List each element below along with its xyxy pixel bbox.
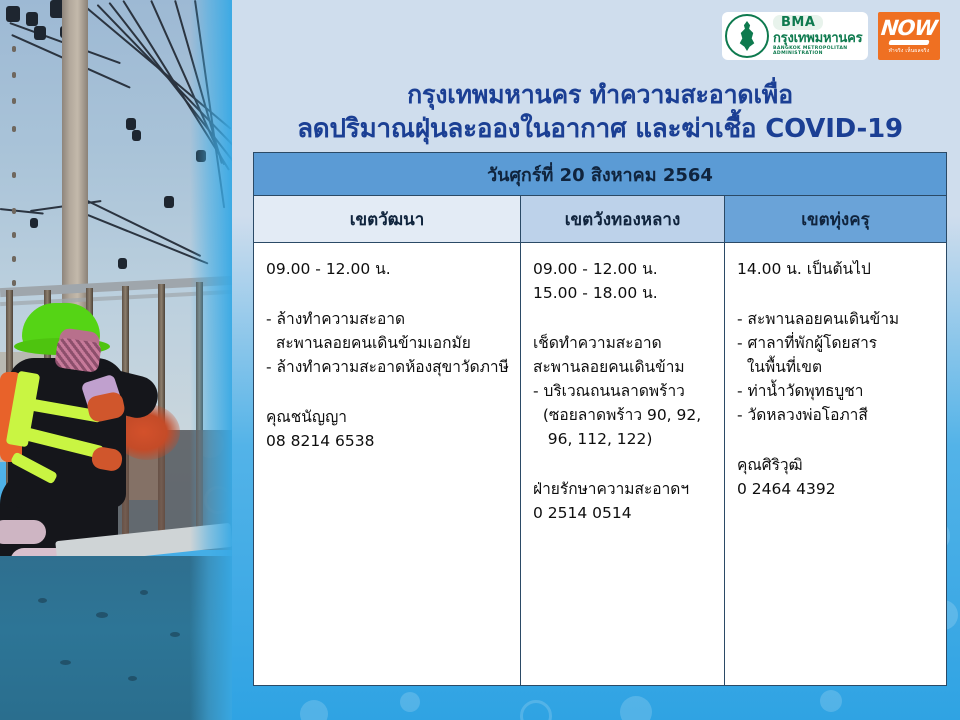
bma-logo-th: กรุงเทพมหานคร [773, 32, 862, 45]
cell-line: 15.00 - 18.00 น. [533, 281, 712, 305]
photo-edge-fade [190, 0, 232, 720]
cell-line-spacer [533, 451, 712, 464]
cell-line-spacer [266, 379, 508, 392]
cell-thungkhru: 14.00 น. เป็นต้นไป- สะพานลอยคนเดินข้าม- … [725, 243, 946, 685]
bma-seal-icon [725, 14, 769, 58]
schedule-table: วันศุกร์ที่ 20 สิงหาคม 2564 เขตวัฒนา เขต… [253, 152, 947, 686]
cell-line-spacer [533, 305, 712, 318]
cell-line: ในพื้นที่เขต [737, 355, 934, 379]
cell-line: 08 8214 6538 [266, 429, 508, 453]
cell-line: 14.00 น. เป็นต้นไป [737, 257, 934, 281]
cell-line: - สะพานลอยคนเดินข้าม [737, 307, 934, 331]
column-header-thungkhru: เขตทุ่งครุ [725, 196, 946, 242]
worker-mask [54, 337, 102, 373]
table-body: 09.00 - 12.00 น.- ล้างทำความสะอาด สะพานล… [254, 243, 946, 685]
now-logo-bar [888, 40, 929, 45]
bma-logo-sub: BANGKOK METROPOLITAN ADMINISTRATION [773, 47, 862, 56]
bma-logo-en: BMA [773, 15, 823, 30]
cell-line-spacer [737, 427, 934, 440]
cell-line-spacer [533, 464, 712, 477]
cell-line: - วัดหลวงพ่อโอภาสี [737, 403, 934, 427]
page-title-line1: กรุงเทพมหานคร ทำความสะอาดเพื่อ [250, 78, 950, 112]
cell-line-spacer [266, 392, 508, 405]
cell-line: ฝ่ายรักษาความสะอาดฯ [533, 477, 712, 501]
now-logo-sub: ทำจริง เห็นผลจริง [889, 47, 930, 55]
table-date-header: วันศุกร์ที่ 20 สิงหาคม 2564 [254, 153, 946, 196]
cell-line: สะพานลอยคนเดินข้ามเอกมัย [266, 331, 508, 355]
cell-line: 0 2514 0514 [533, 501, 712, 525]
cell-wangthonglang: 09.00 - 12.00 น.15.00 - 18.00 น.เช็ดทำคว… [521, 243, 725, 685]
now-logo: NOW ทำจริง เห็นผลจริง [878, 12, 940, 60]
page-title-line2: ลดปริมาณฝุ่นละอองในอากาศ และฆ่าเชื้อ COV… [250, 112, 950, 147]
cell-line: - ศาลาที่พักผู้โดยสาร [737, 331, 934, 355]
cell-line: 96, 112, 122) [533, 427, 712, 451]
cell-line: (ซอยลาดพร้าว 90, 92, [533, 403, 712, 427]
cell-line: 09.00 - 12.00 น. [533, 257, 712, 281]
logo-bar: BMA กรุงเทพมหานคร BANGKOK METROPOLITAN A… [722, 12, 940, 60]
cell-line: 0 2464 4392 [737, 477, 934, 501]
cell-line-spacer [737, 281, 934, 294]
page-title: กรุงเทพมหานคร ทำความสะอาดเพื่อ ลดปริมาณฝ… [250, 78, 950, 147]
cell-line-spacer [533, 318, 712, 331]
cell-line-spacer [737, 440, 934, 453]
cell-line: - บริเวณถนนลาดพร้าว [533, 379, 712, 403]
cell-line: - ล้างทำความสะอาด [266, 307, 508, 331]
table-column-headers: เขตวัฒนา เขตวังทองหลาง เขตทุ่งครุ [254, 196, 946, 243]
cell-line: คุณชนัญญา [266, 405, 508, 429]
cell-watthana: 09.00 - 12.00 น.- ล้างทำความสะอาด สะพานล… [254, 243, 521, 685]
cell-line: คุณศิริวุฒิ [737, 453, 934, 477]
poster-root: BMA กรุงเทพมหานคร BANGKOK METROPOLITAN A… [0, 0, 960, 720]
cell-line-spacer [266, 281, 508, 294]
cell-line: 09.00 - 12.00 น. [266, 257, 508, 281]
cell-line: สะพานลอยคนเดินข้าม [533, 355, 712, 379]
cell-line: - ล้างทำความสะอาดห้องสุขาวัดภาษี [266, 355, 508, 379]
now-logo-word: NOW [880, 18, 938, 39]
worker-photo [0, 0, 232, 720]
cell-line: เช็ดทำความสะอาด [533, 331, 712, 355]
cell-line-spacer [737, 294, 934, 307]
cell-line: - ท่าน้ำวัดพุทธบูชา [737, 379, 934, 403]
cell-line-spacer [266, 294, 508, 307]
worker-shoe-back [0, 520, 46, 544]
column-header-watthana: เขตวัฒนา [254, 196, 521, 242]
bma-logo: BMA กรุงเทพมหานคร BANGKOK METROPOLITAN A… [722, 12, 868, 60]
column-header-wangthonglang: เขตวังทองหลาง [521, 196, 725, 242]
